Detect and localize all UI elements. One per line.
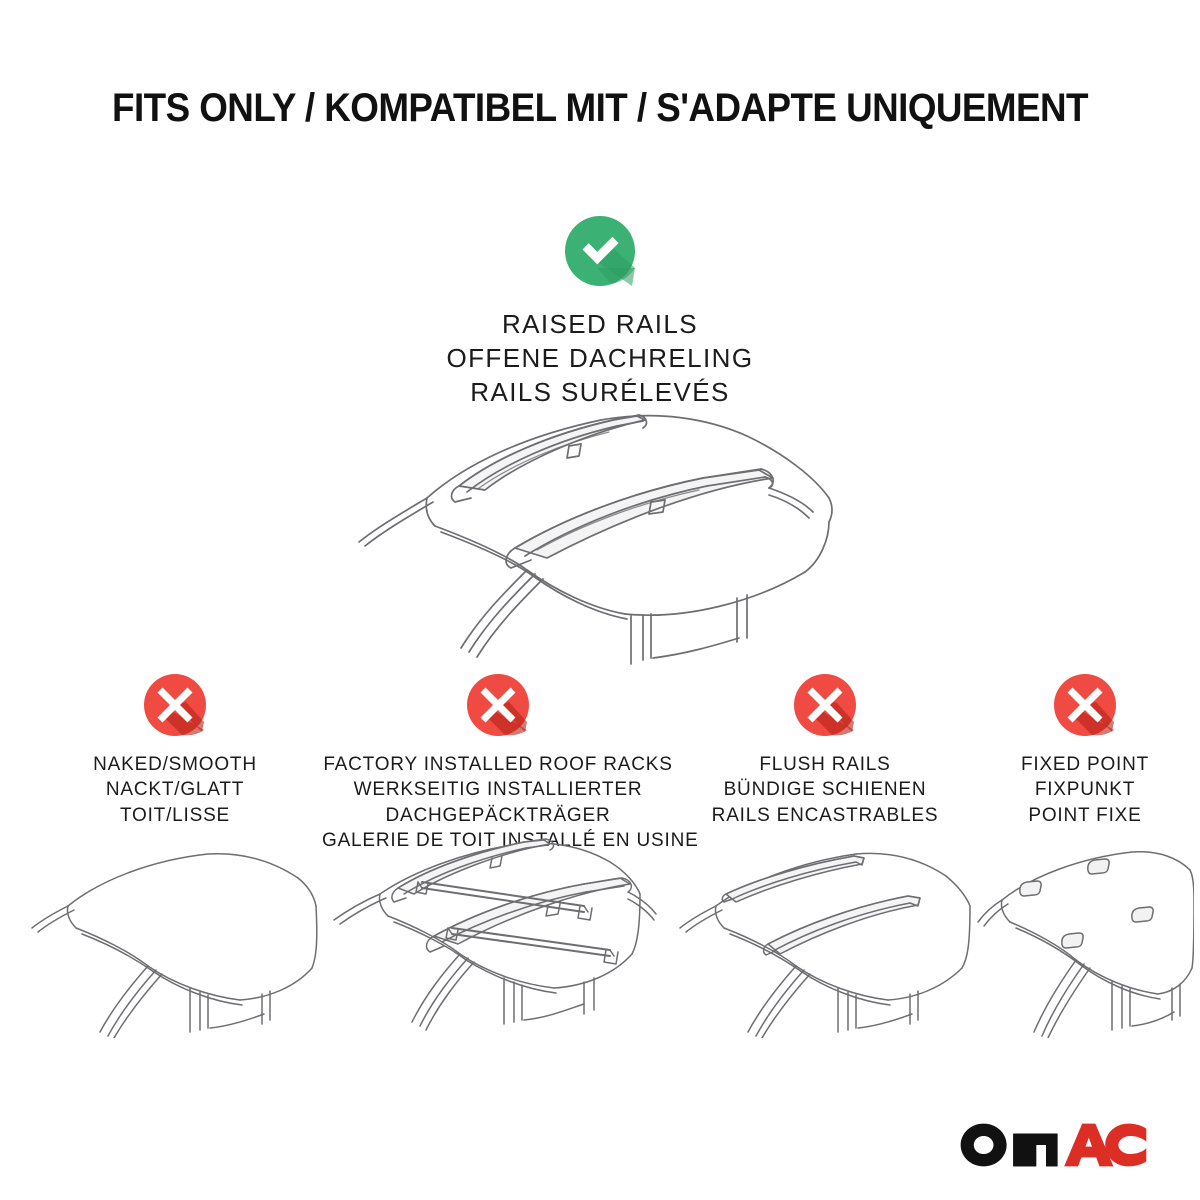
- infographic-page: FITS ONLY / KOMPATIBEL MIT / S'ADAPTE UN…: [0, 0, 1200, 1200]
- label-line-de-1: WERKSEITIG INSTALLIERTER: [322, 777, 674, 802]
- label-line-en: FACTORY INSTALLED ROOF RACKS: [322, 752, 674, 777]
- incompatible-item-fixed-point: FIXED POINT FIXPUNKT POINT FIXE: [976, 672, 1194, 828]
- car-roof-raised-rails-illustration: [355, 402, 835, 667]
- label-line-fr: RAILS ENCASTRABLES: [676, 803, 974, 828]
- label-line-en: FLUSH RAILS: [676, 752, 974, 777]
- label-line-en: FIXED POINT: [976, 752, 1194, 777]
- label-line-fr: POINT FIXE: [976, 803, 1194, 828]
- car-roof-naked-illustration: [30, 848, 320, 1038]
- incompatible-item-naked-smooth: NAKED/SMOOTH NACKT/GLATT TOIT/LISSE: [30, 672, 320, 828]
- label-line-fr: TOIT/LISSE: [30, 803, 320, 828]
- car-roof-flush-rails-illustration: [676, 848, 974, 1038]
- x-circle-icon: [142, 672, 208, 738]
- label-line-de: FIXPUNKT: [976, 777, 1194, 802]
- x-circle-icon: [792, 672, 858, 738]
- omac-logo: [959, 1122, 1148, 1168]
- compatible-label-de: OFFENE DACHRELING: [0, 342, 1200, 376]
- compatible-section: RAISED RAILS OFFENE DACHRELING RAILS SUR…: [0, 214, 1200, 409]
- incompatible-labels-naked-smooth: NAKED/SMOOTH NACKT/GLATT TOIT/LISSE: [30, 752, 320, 828]
- page-title: FITS ONLY / KOMPATIBEL MIT / S'ADAPTE UN…: [48, 86, 1152, 131]
- compatible-labels: RAISED RAILS OFFENE DACHRELING RAILS SUR…: [0, 308, 1200, 409]
- label-line-en: NAKED/SMOOTH: [30, 752, 320, 777]
- incompatible-item-factory-racks: FACTORY INSTALLED ROOF RACKS WERKSEITIG …: [322, 672, 674, 853]
- x-circle-icon: [1052, 672, 1118, 738]
- incompatible-labels-flush-rails: FLUSH RAILS BÜNDIGE SCHIENEN RAILS ENCAS…: [676, 752, 974, 828]
- compatible-label-en: RAISED RAILS: [0, 308, 1200, 342]
- car-roof-fixed-point-illustration: [976, 848, 1194, 1038]
- x-circle-icon: [465, 672, 531, 738]
- incompatible-labels-fixed-point: FIXED POINT FIXPUNKT POINT FIXE: [976, 752, 1194, 828]
- incompatible-section: NAKED/SMOOTH NACKT/GLATT TOIT/LISSE: [0, 672, 1200, 1092]
- incompatible-item-flush-rails: FLUSH RAILS BÜNDIGE SCHIENEN RAILS ENCAS…: [676, 672, 974, 828]
- car-roof-factory-racks-illustration: [322, 832, 674, 1032]
- label-line-de-2: DACHGEPÄCKTRÄGER: [322, 803, 674, 828]
- label-line-de: NACKT/GLATT: [30, 777, 320, 802]
- check-circle-icon: [563, 214, 637, 288]
- label-line-de: BÜNDIGE SCHIENEN: [676, 777, 974, 802]
